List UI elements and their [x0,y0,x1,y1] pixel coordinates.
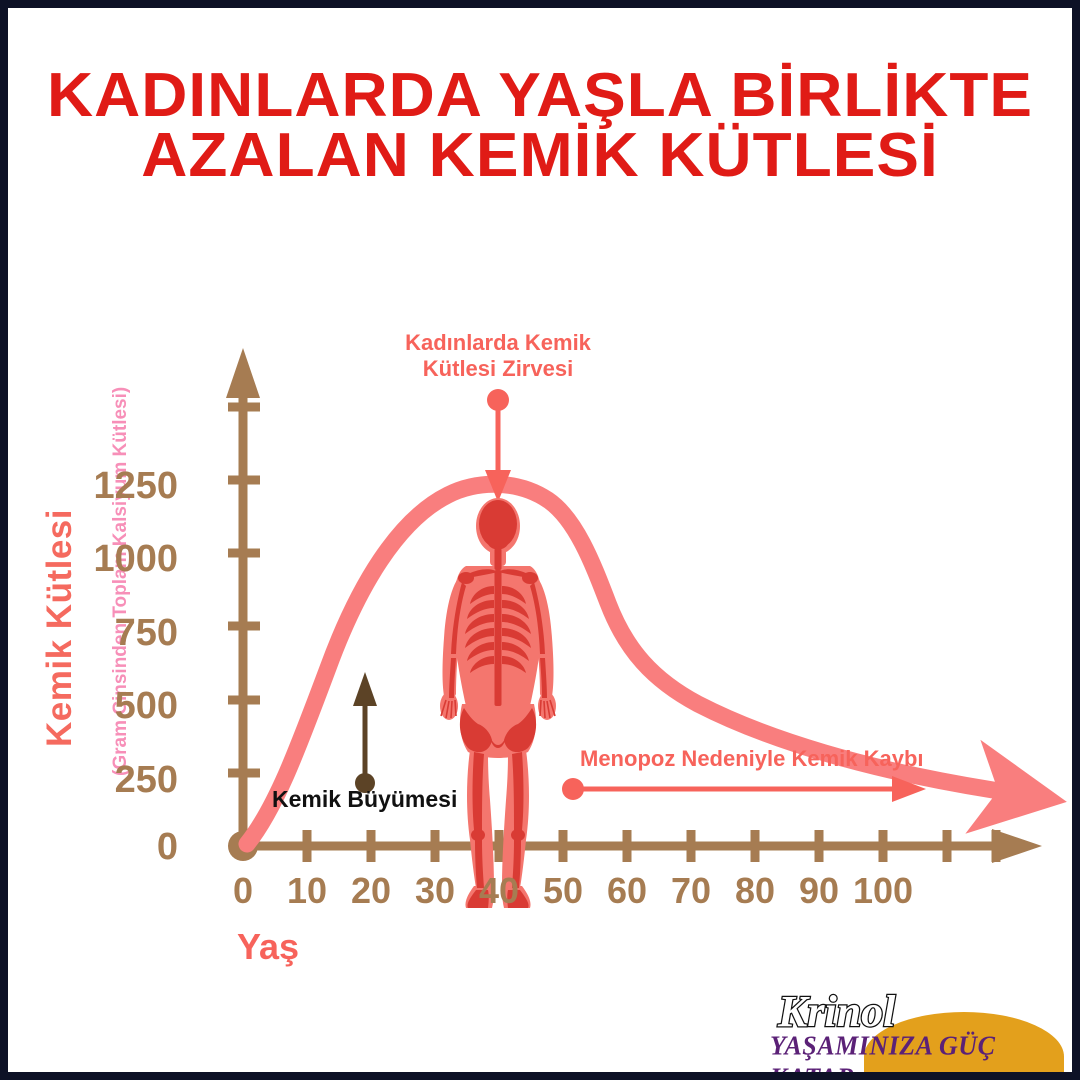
growth-annotation-arrow [353,672,377,793]
logo-slogan: YAŞAMINIZA GÜÇ KATAR [770,1030,1064,1072]
x-axis-label: Yaş [208,926,328,968]
y-tick-label: 1250 [58,465,178,508]
infographic-canvas: KADINLARDA YAŞLA BİRLİKTE AZALAN KEMİK K… [8,8,1072,1072]
y-tick-label: 250 [58,759,178,802]
y-tick-label: 500 [58,685,178,728]
poster-frame: KADINLARDA YAŞLA BİRLİKTE AZALAN KEMİK K… [0,0,1080,1080]
menopause-annotation-label: Menopoz Nedeniyle Kemik Kaybı [580,746,924,772]
peak-annotation-label: Kadınlarda Kemik Kütlesi Zirvesi [368,330,628,382]
y-tick-label: 0 [58,826,178,869]
brand-logo: Krinol YAŞAMINIZA GÜÇ KATAR [764,986,1064,1072]
y-tick-label: 750 [58,612,178,655]
y-tick-label: 1000 [58,538,178,581]
menopause-annotation-arrow [562,776,926,802]
growth-annotation-label: Kemik Büyümesi [272,786,457,813]
y-axis-arrowhead [226,348,260,398]
x-tick-label: 100 [843,870,923,912]
